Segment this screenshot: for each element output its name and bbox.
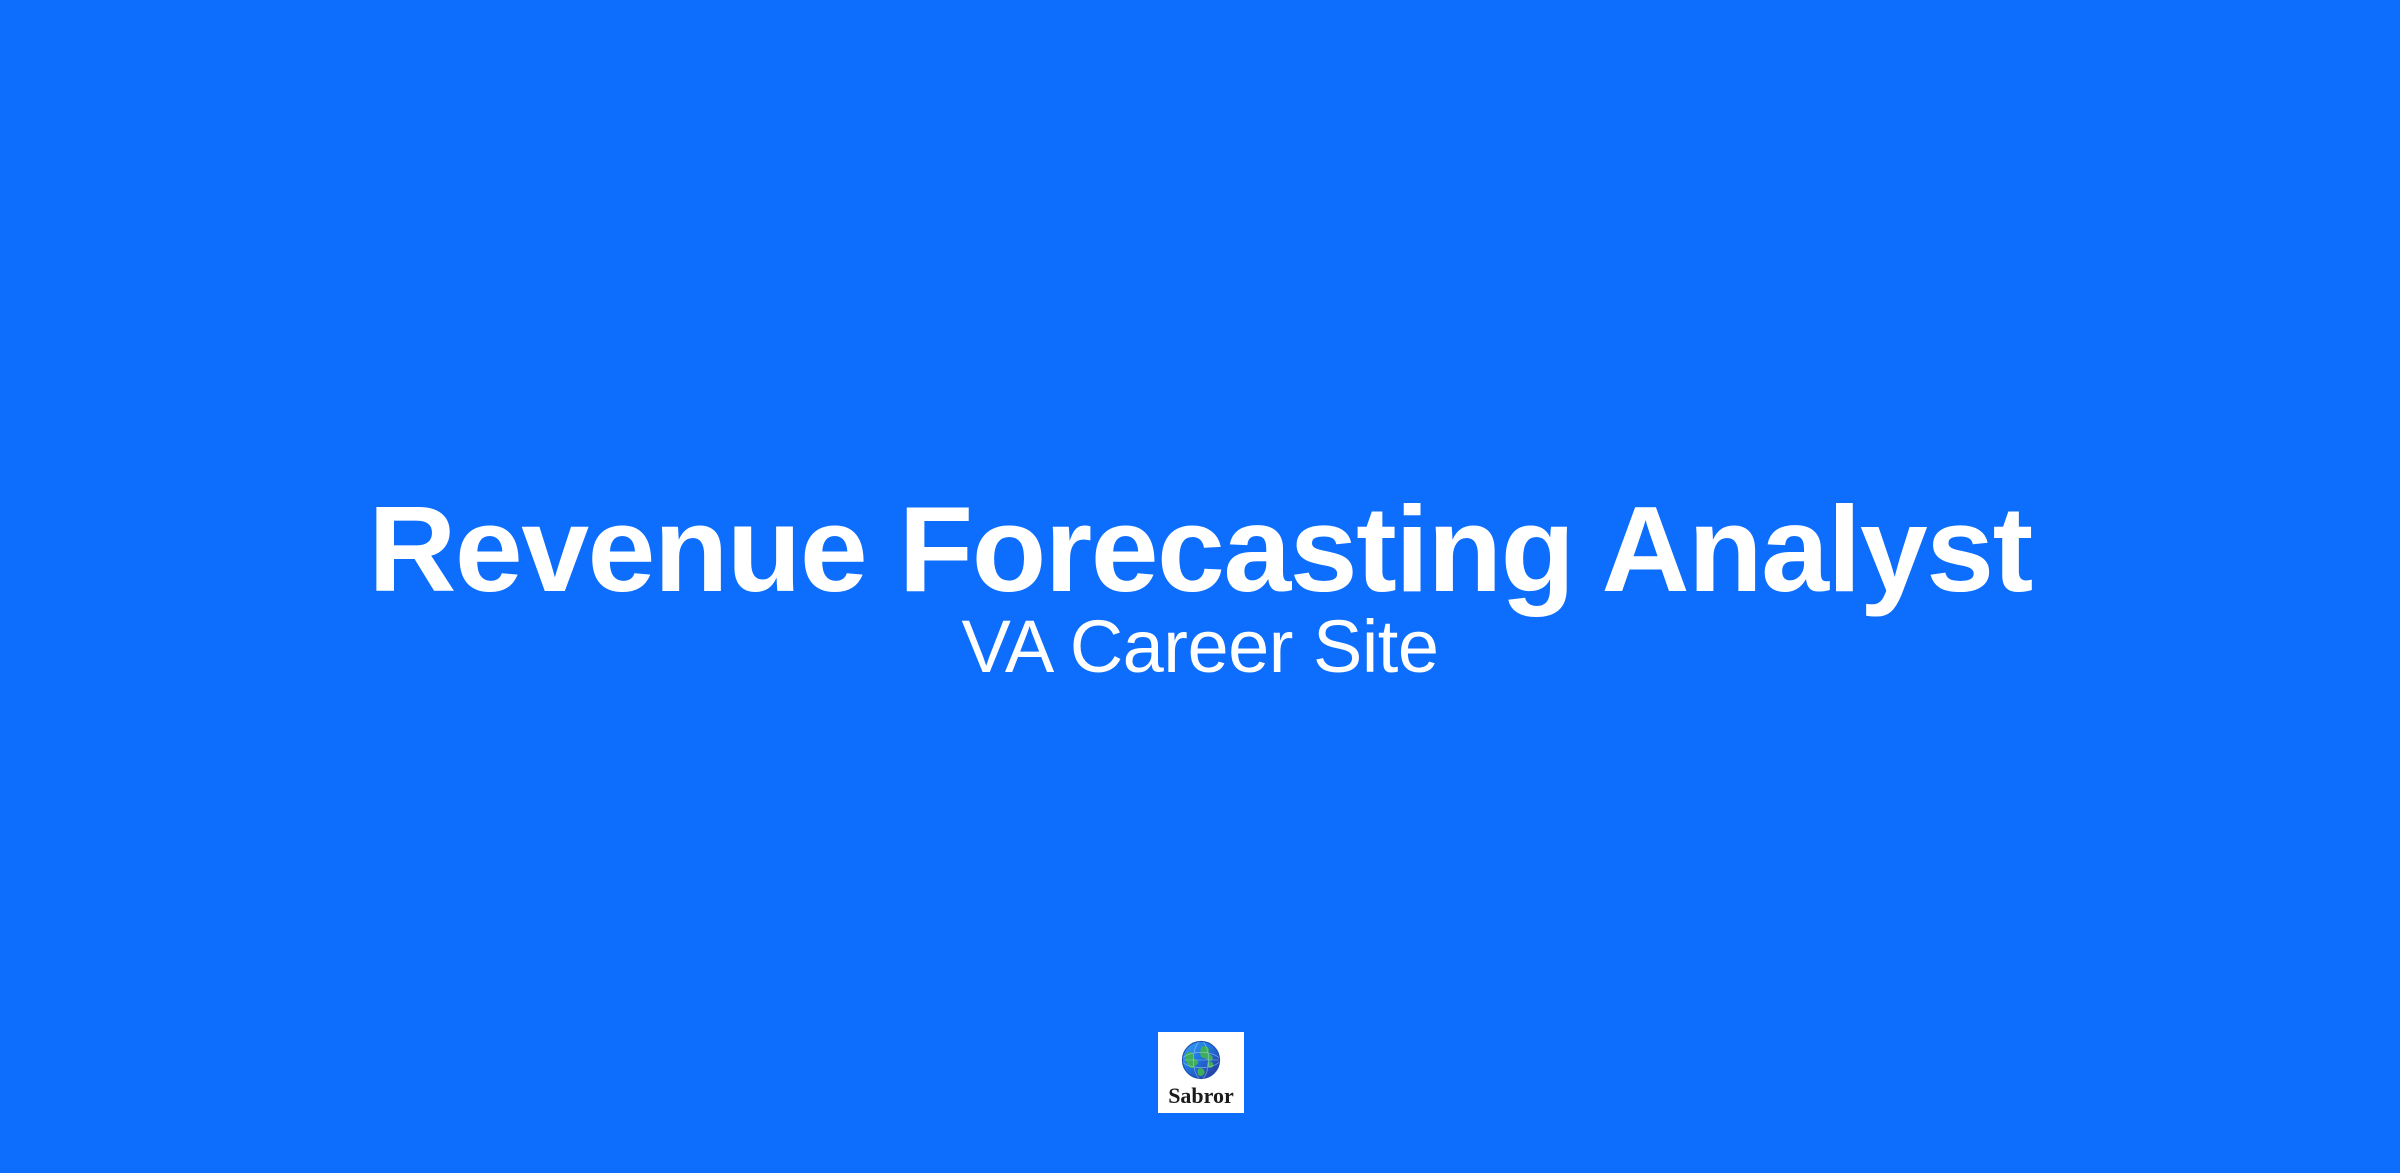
title-slide: Revenue Forecasting Analyst VA Career Si…	[0, 0, 2400, 1173]
globe-icon	[1179, 1038, 1223, 1082]
page-title: Revenue Forecasting Analyst	[100, 484, 2300, 616]
hero-section: Revenue Forecasting Analyst VA Career Si…	[0, 0, 2400, 1173]
page-subtitle: VA Career Site	[100, 606, 2300, 687]
brand-name: Sabror	[1168, 1083, 1234, 1109]
brand-logo[interactable]: Sabror	[1158, 1032, 1244, 1113]
